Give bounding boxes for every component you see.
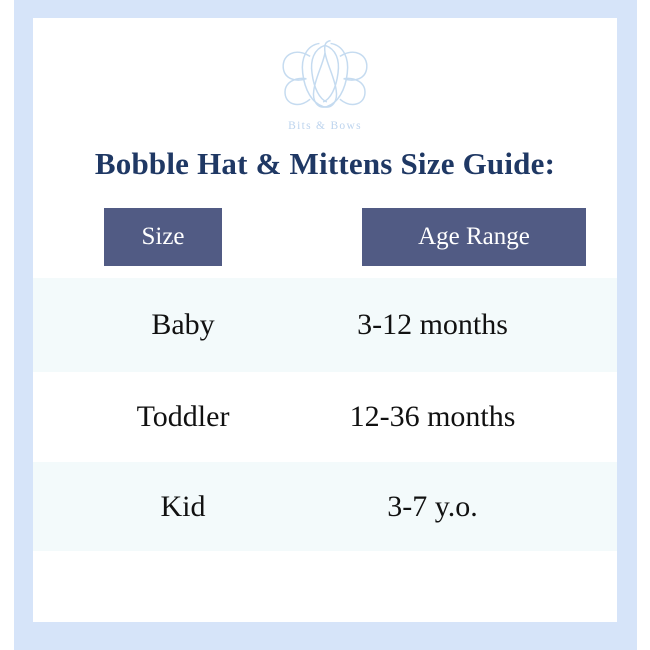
size-guide-card: Bits & Bows Bobble Hat & Mittens Size Gu… (14, 0, 637, 650)
brand-wordmark: Bits & Bows (33, 120, 617, 132)
column-header-age-range: Age Range (362, 208, 586, 266)
cell-age-range: 3-12 months (313, 278, 552, 372)
column-header-size: Size (104, 208, 222, 266)
bits-and-bows-monogram-icon (278, 36, 372, 114)
cell-age-range: 3-7 y.o. (313, 462, 552, 551)
cell-size: Toddler (74, 372, 292, 462)
table-row: Toddler 12-36 months (33, 372, 617, 462)
cell-age-range: 12-36 months (313, 372, 552, 462)
table-row: Baby 3-12 months (33, 278, 617, 372)
table-header-row: Size Age Range (33, 208, 617, 266)
brand-logo: Bits & Bows (33, 36, 617, 132)
cell-size: Baby (74, 278, 292, 372)
content-panel: Bits & Bows Bobble Hat & Mittens Size Gu… (33, 18, 617, 622)
page-title: Bobble Hat & Mittens Size Guide: (33, 146, 617, 182)
table-row: Kid 3-7 y.o. (33, 462, 617, 551)
cell-size: Kid (74, 462, 292, 551)
